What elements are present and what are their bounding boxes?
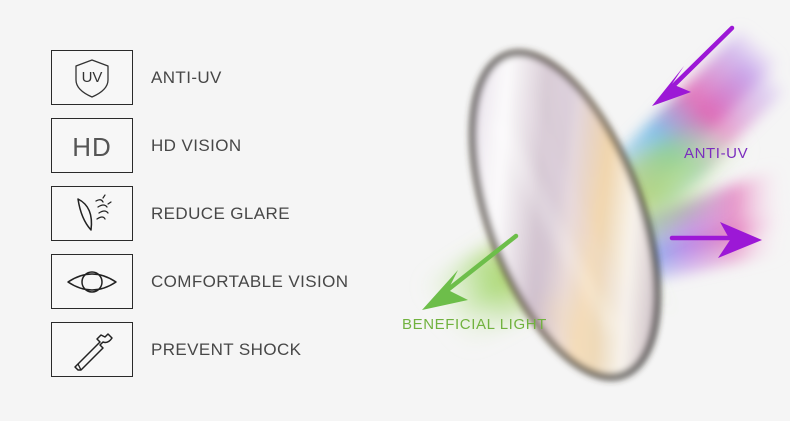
feature-row-anti-uv: UV ANTI-UV xyxy=(51,50,391,105)
iridescent-lens-diagram xyxy=(400,0,790,421)
feature-label-prevent-shock: PREVENT SHOCK xyxy=(151,340,301,360)
feature-label-reduce-glare: REDUCE GLARE xyxy=(151,204,290,224)
feature-label-hd-vision: HD VISION xyxy=(151,136,242,156)
hd-text-icon-text: HD xyxy=(72,132,112,162)
feature-label-anti-uv: ANTI-UV xyxy=(151,68,222,88)
feature-label-comfortable-vision: COMFORTABLE VISION xyxy=(151,272,348,292)
feature-row-hd-vision: HD HD VISION xyxy=(51,118,391,173)
feature-row-comfortable-vision: COMFORTABLE VISION xyxy=(51,254,391,309)
feature-row-prevent-shock: PREVENT SHOCK xyxy=(51,322,391,377)
hammer-icon xyxy=(51,322,133,377)
eye-icon xyxy=(51,254,133,309)
glare-icon xyxy=(51,186,133,241)
hd-text-icon: HD xyxy=(51,118,133,173)
anti-uv-callout-label: ANTI-UV xyxy=(684,145,748,162)
beneficial-light-callout-label: BENEFICIAL LIGHT xyxy=(402,316,547,333)
feature-list: UV ANTI-UV HD HD VISION xyxy=(51,50,391,390)
uv-shield-icon-text: UV xyxy=(82,69,103,86)
uv-shield-icon: UV xyxy=(51,50,133,105)
feature-row-reduce-glare: REDUCE GLARE xyxy=(51,186,391,241)
lens-feature-infographic: UV ANTI-UV HD HD VISION xyxy=(0,0,790,421)
